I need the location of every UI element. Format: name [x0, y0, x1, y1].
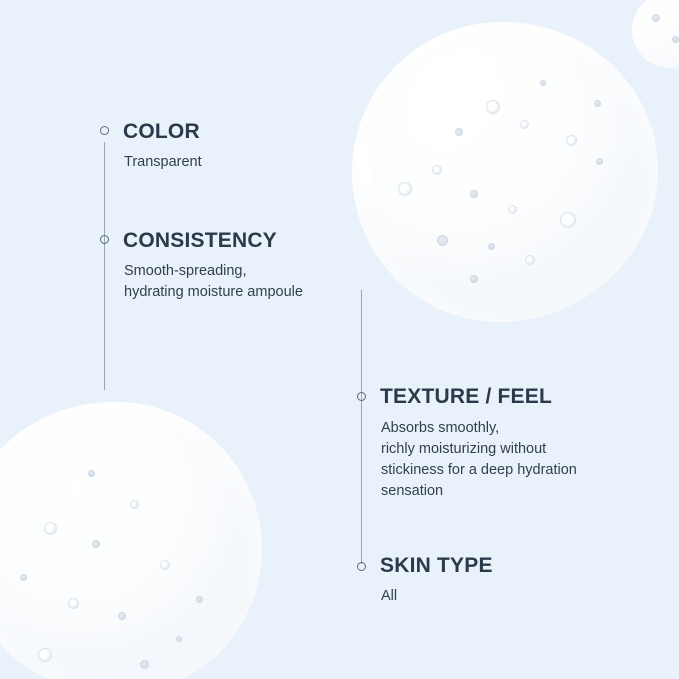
product-texture-infographic: COLOR Transparent CONSISTENCY Smooth-spr… — [0, 0, 679, 679]
info-list: COLOR Transparent CONSISTENCY Smooth-spr… — [0, 0, 679, 679]
bullet-marker-texture — [357, 392, 366, 401]
heading-skin-type: SKIN TYPE — [380, 554, 493, 578]
description-consistency: Smooth-spreading, hydrating moisture amp… — [124, 261, 303, 303]
heading-texture-feel: TEXTURE / FEEL — [380, 385, 552, 409]
bullet-marker-skin-type — [357, 562, 366, 571]
description-color: Transparent — [124, 152, 202, 173]
heading-color: COLOR — [123, 120, 200, 144]
bullet-marker-consistency — [100, 235, 109, 244]
description-texture-feel: Absorbs smoothly, richly moisturizing wi… — [381, 418, 577, 502]
description-skin-type: All — [381, 586, 397, 607]
heading-consistency: CONSISTENCY — [123, 229, 277, 253]
bullet-marker-color — [100, 126, 109, 135]
